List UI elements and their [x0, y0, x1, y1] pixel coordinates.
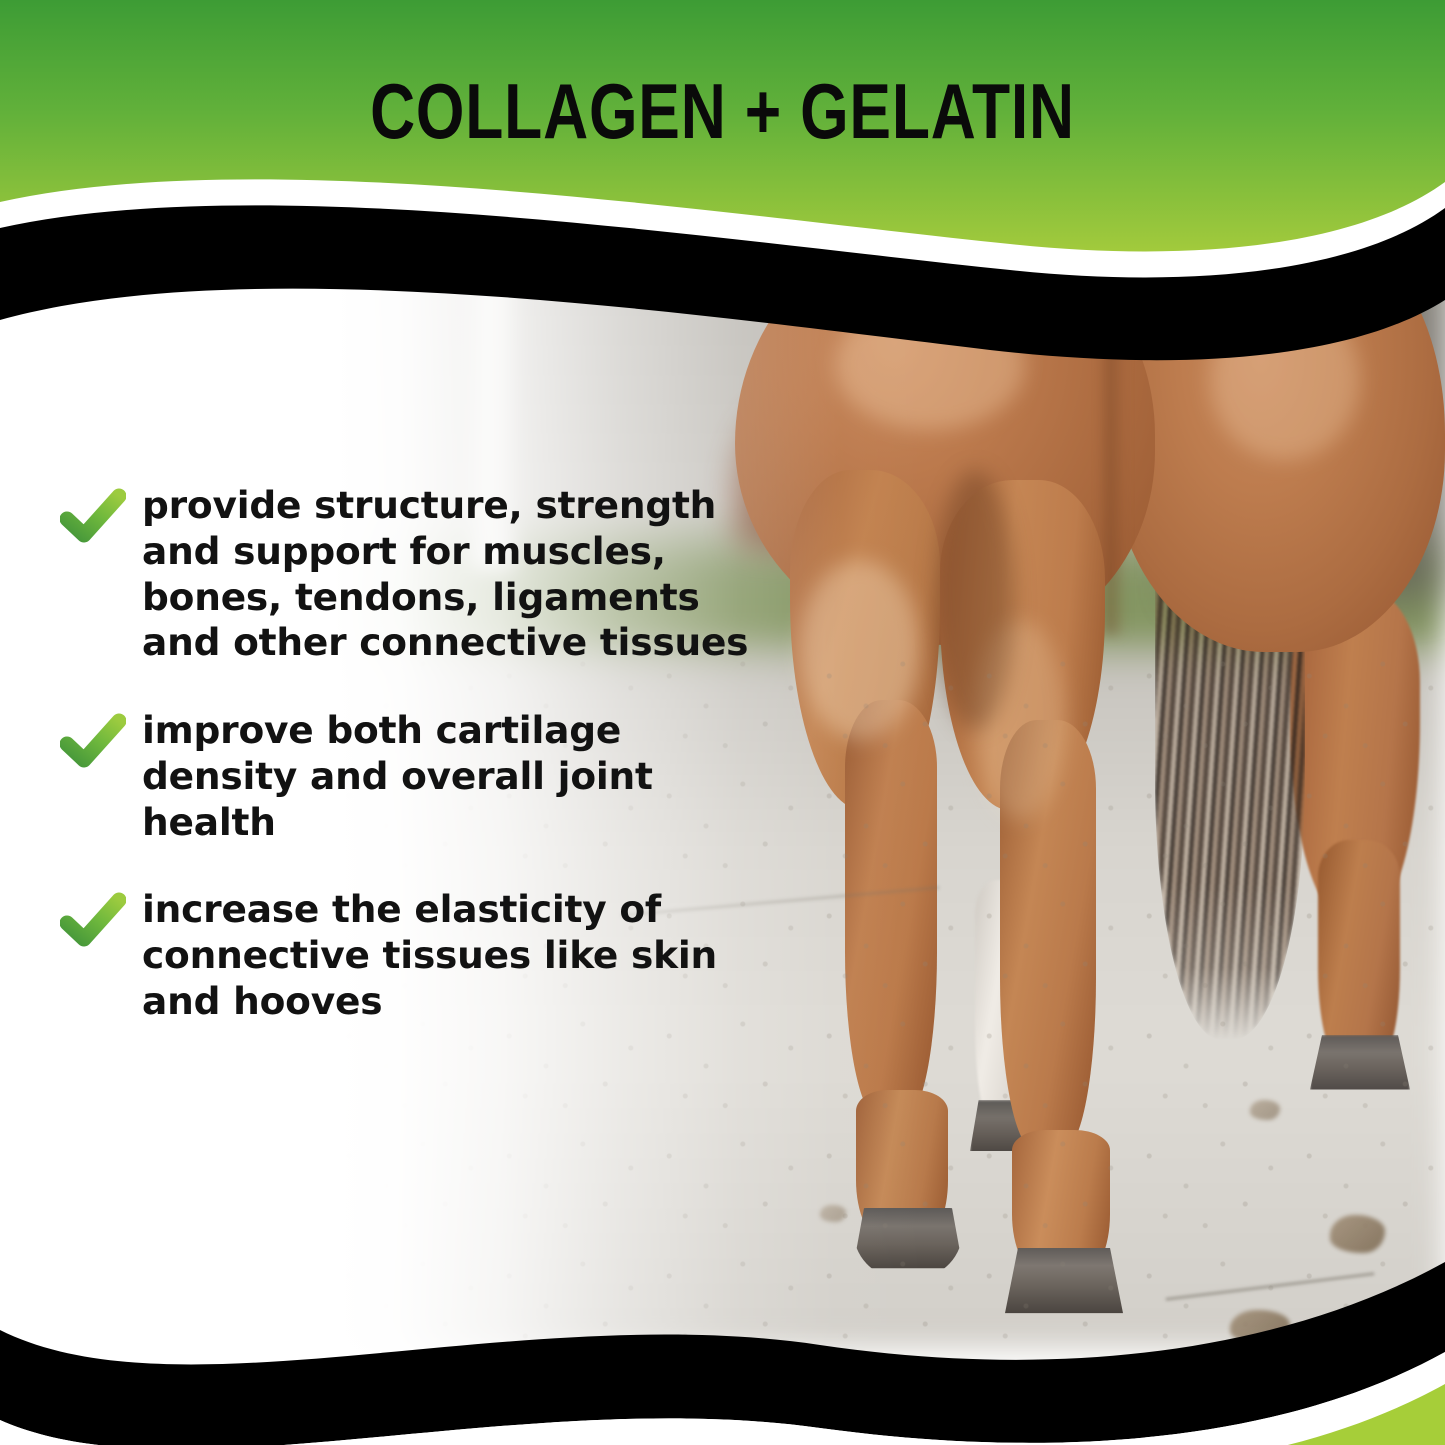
list-item: increase the elasticity of connective ti…	[60, 887, 760, 1024]
green-check-icon	[60, 891, 126, 949]
benefits-list: provide structure, strength and support …	[60, 483, 760, 1025]
photo-bottom-fade	[0, 1325, 1445, 1445]
green-check-icon	[60, 712, 126, 770]
list-item: provide structure, strength and support …	[60, 483, 760, 666]
green-check-icon	[60, 487, 126, 545]
list-item-label: provide structure, strength and support …	[142, 483, 748, 666]
list-item-label: improve both cartilage density and overa…	[142, 708, 653, 845]
infographic-card: COLLAGEN + GELATIN provide structure, st…	[0, 0, 1445, 1445]
page-title: COLLAGEN + GELATIN	[145, 72, 1301, 150]
list-item-label: increase the elasticity of connective ti…	[142, 887, 717, 1024]
list-item: improve both cartilage density and overa…	[60, 708, 760, 845]
